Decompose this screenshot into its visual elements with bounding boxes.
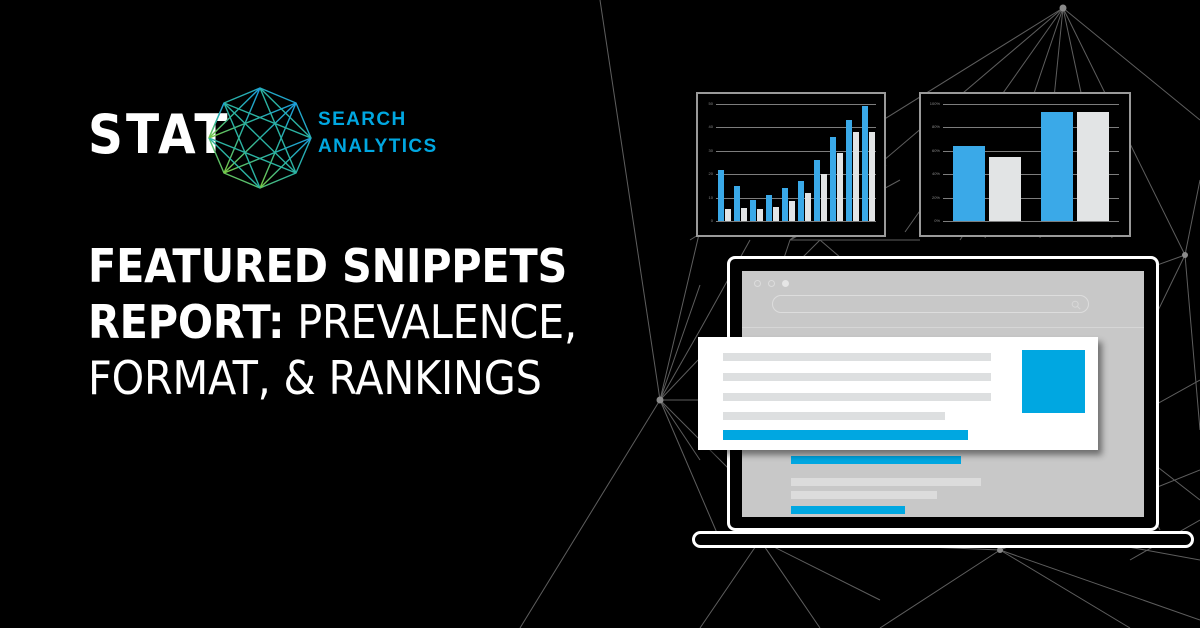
chart-bar bbox=[846, 120, 852, 221]
bar-chart-panel-2: 0%20%40%60%80%100% bbox=[919, 92, 1131, 237]
laptop-base bbox=[692, 531, 1194, 548]
chart-bar bbox=[782, 188, 788, 221]
chart-y-tick-label: 80% bbox=[922, 125, 940, 129]
tagline-line-1: SEARCH bbox=[318, 107, 438, 134]
chart-bar bbox=[725, 209, 731, 221]
headline-light-2: PREVALENCE, bbox=[284, 295, 577, 349]
chart-bar bbox=[830, 137, 836, 221]
chart-bar bbox=[837, 153, 843, 221]
chart-gridline bbox=[716, 221, 876, 222]
serp-result-link-1[interactable] bbox=[791, 456, 961, 464]
chart-bar bbox=[1041, 112, 1073, 221]
chart-bar bbox=[741, 208, 747, 221]
headline-line-1: FEATURED SNIPPETS bbox=[88, 238, 658, 294]
brand-tagline: SEARCH ANALYTICS bbox=[318, 107, 438, 161]
browser-dot-2 bbox=[768, 280, 775, 287]
chart-1-plot: 01020304050 bbox=[698, 94, 884, 235]
serp-result-text-1 bbox=[791, 478, 981, 486]
chart-gridline bbox=[943, 221, 1119, 222]
chart-2-plot: 0%20%40%60%80%100% bbox=[921, 94, 1129, 235]
chart-y-tick-label: 30 bbox=[699, 149, 713, 153]
page-title: FEATURED SNIPPETS REPORT: PREVALENCE, FO… bbox=[88, 238, 658, 406]
chart-bar bbox=[853, 132, 859, 221]
brand-logo: STAT bbox=[88, 82, 438, 194]
chart-bar bbox=[798, 181, 804, 221]
headline-line-2: REPORT: PREVALENCE, bbox=[88, 294, 658, 350]
chart-bar bbox=[750, 200, 756, 221]
browser-chrome-divider bbox=[742, 327, 1144, 328]
chart-bar bbox=[989, 157, 1021, 221]
chart-bar bbox=[757, 209, 763, 221]
chart-y-tick-label: 40% bbox=[922, 172, 940, 176]
chart-bar bbox=[805, 193, 811, 221]
headline-light-3: FORMAT, & RANKINGS bbox=[88, 351, 542, 405]
magnifier-icon bbox=[1071, 300, 1081, 310]
snippet-text-line-3 bbox=[723, 393, 991, 401]
chart-y-tick-label: 0% bbox=[922, 219, 940, 223]
chart-bar bbox=[766, 195, 772, 221]
chart-y-tick-label: 40 bbox=[699, 125, 713, 129]
snippet-text-line-2 bbox=[723, 373, 991, 381]
browser-dot-3 bbox=[782, 280, 789, 287]
chart-bar bbox=[814, 160, 820, 221]
chart-y-tick-label: 50 bbox=[699, 102, 713, 106]
chart-bar bbox=[773, 207, 779, 221]
chart-bar bbox=[1077, 112, 1109, 221]
headline-bold-1: FEATURED SNIPPETS bbox=[88, 239, 567, 293]
serp-result-link-2[interactable] bbox=[791, 506, 905, 514]
chart-y-tick-label: 60% bbox=[922, 149, 940, 153]
octagon-network-logo-icon bbox=[204, 82, 316, 194]
snippet-text-line-1 bbox=[723, 353, 991, 361]
browser-dot-1 bbox=[754, 280, 761, 287]
chart-gridline bbox=[716, 104, 876, 105]
chart-bar bbox=[953, 146, 985, 221]
chart-bar bbox=[734, 186, 740, 221]
chart-y-tick-label: 100% bbox=[922, 102, 940, 106]
chart-y-tick-label: 0 bbox=[699, 219, 713, 223]
chart-bar bbox=[862, 106, 868, 221]
chart-y-tick-label: 10 bbox=[699, 196, 713, 200]
tagline-line-2: ANALYTICS bbox=[318, 134, 438, 161]
snippet-text-line-4 bbox=[723, 412, 945, 420]
chart-gridline bbox=[943, 104, 1119, 105]
search-input[interactable] bbox=[772, 295, 1089, 313]
chart-y-tick-label: 20% bbox=[922, 196, 940, 200]
promo-banner: STAT bbox=[0, 0, 1200, 628]
chart-y-tick-label: 20 bbox=[699, 172, 713, 176]
headline-line-3: FORMAT, & RANKINGS bbox=[88, 350, 658, 406]
snippet-thumbnail-image bbox=[1022, 350, 1085, 413]
chart-bar bbox=[718, 170, 724, 221]
bar-chart-panel-1: 01020304050 bbox=[696, 92, 886, 237]
chart-bar bbox=[869, 132, 875, 221]
featured-snippet-card bbox=[698, 337, 1098, 450]
chart-bar bbox=[821, 174, 827, 221]
serp-result-text-2 bbox=[791, 491, 937, 499]
snippet-source-link[interactable] bbox=[723, 430, 968, 440]
chart-bar bbox=[789, 201, 795, 221]
headline-bold-2: REPORT: bbox=[88, 295, 284, 349]
chart-gridline bbox=[716, 127, 876, 128]
